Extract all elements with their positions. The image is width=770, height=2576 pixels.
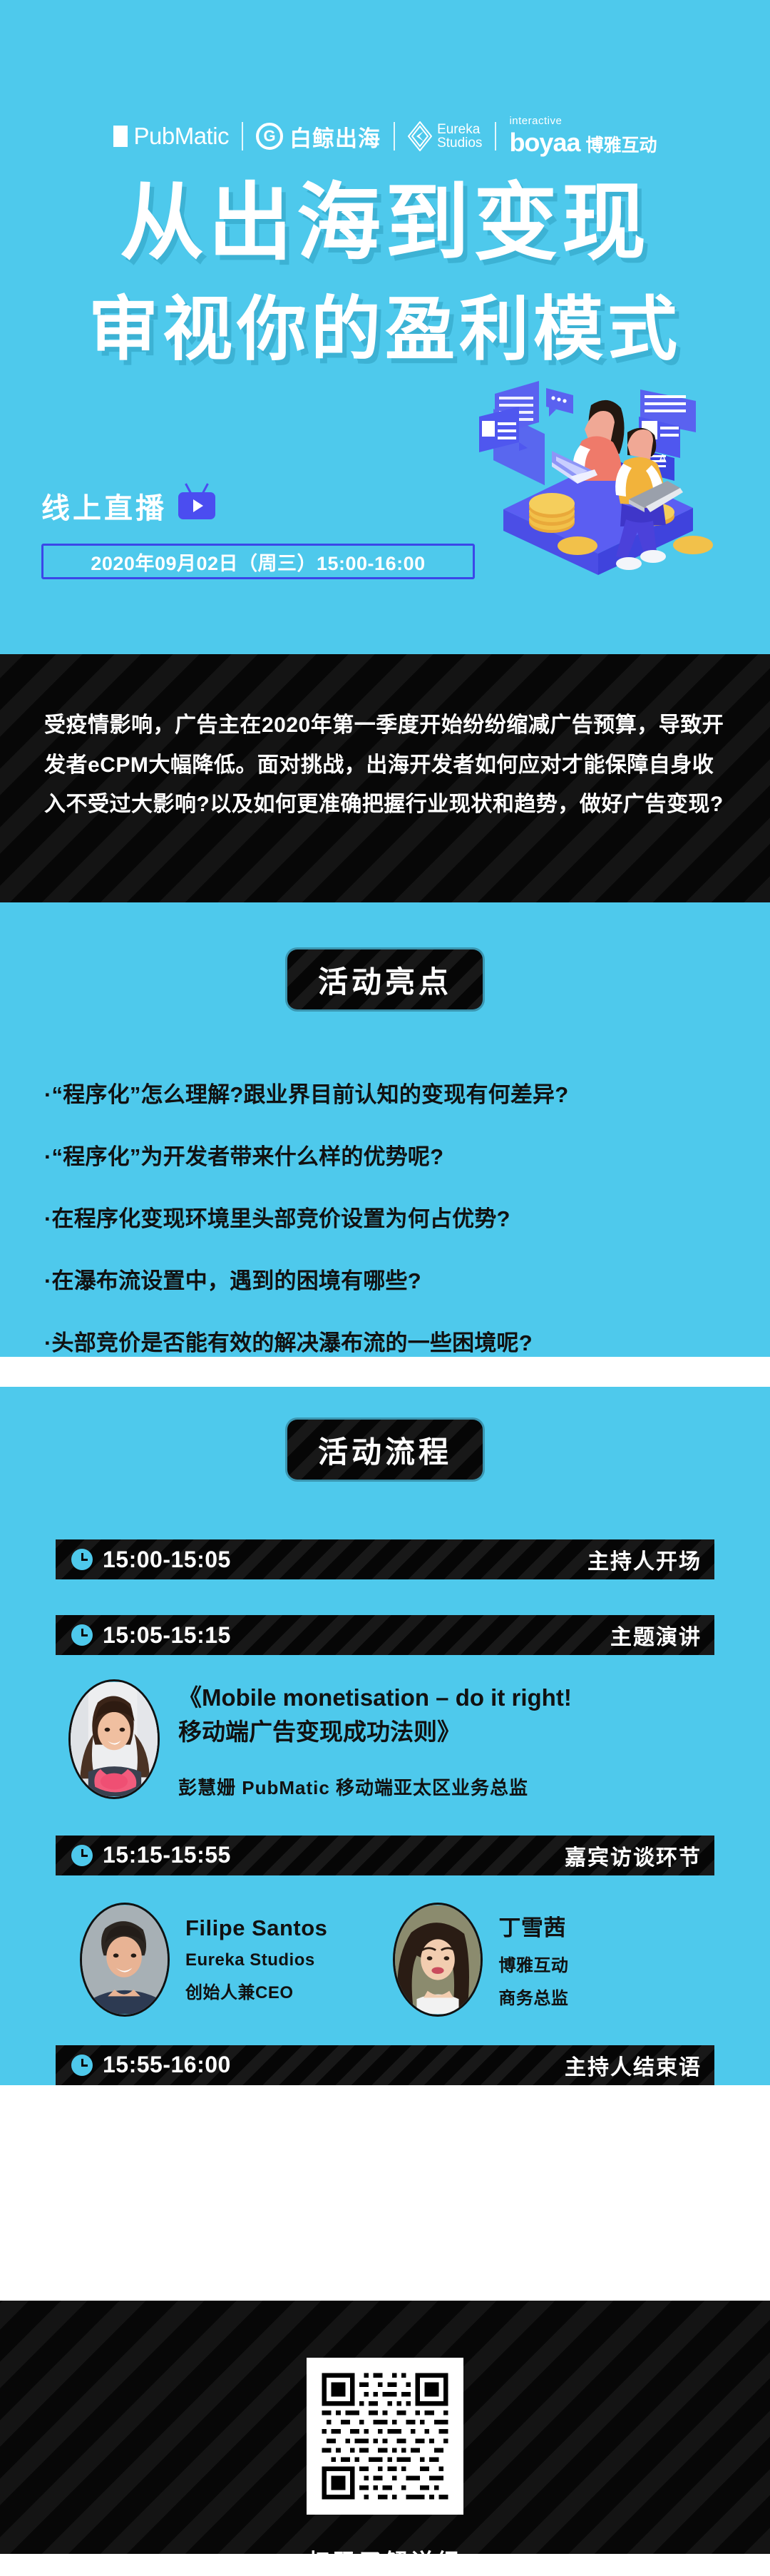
- logo-divider: [242, 122, 243, 151]
- guest-role: 创始人兼CEO: [185, 1978, 327, 2003]
- agenda-time: 15:00-15:05: [103, 1547, 231, 1573]
- intro-paragraph: 受疫情影响，广告主在2020年第一季度开始纷纷缩减广告预算，导致开发者eCPM大…: [44, 706, 726, 825]
- agenda-label: 主持人开场: [587, 1544, 702, 1575]
- hero-section: PubMatic G 白鲸出海 Eureka Studios: [0, 0, 770, 654]
- agenda-label: 主持人结束语: [565, 2050, 702, 2081]
- logo-pubmatic: PubMatic: [113, 123, 230, 150]
- guest-list: Filipe Santos Eureka Studios 创始人兼CEO: [0, 1875, 770, 2017]
- keynote-speaker-name: 彭慧姗 PubMatic 移动端亚太区业务总监: [178, 1773, 572, 1800]
- list-item: ·“程序化”为开发者带来什么样的优势呢?: [44, 1139, 751, 1171]
- highlights-list: ·“程序化”怎么理解?跟业界目前认知的变现有何差异? ·“程序化”为开发者带来什…: [0, 1076, 770, 1357]
- baijing-whale-icon: G: [256, 123, 283, 150]
- agenda-row: 15:15-15:55 嘉宾访谈环节: [56, 1836, 714, 1875]
- eureka-diamond-icon: [408, 122, 432, 151]
- live-label-row: 线上直播: [41, 485, 215, 526]
- baijing-wordmark: 白鲸出海: [289, 121, 381, 153]
- avatar: [68, 1679, 160, 1799]
- guest-card: Filipe Santos Eureka Studios 创始人兼CEO: [80, 1903, 327, 2017]
- keynote-title-line2: 移动端广告变现成功法则》: [178, 1715, 572, 1749]
- partner-logo-row: PubMatic G 白鲸出海 Eureka Studios: [0, 116, 770, 156]
- guest-role: 商务总监: [498, 1984, 568, 2009]
- date-time-badge: 2020年09月02日（周三）15:00-16:00: [41, 544, 475, 579]
- avatar: [393, 1903, 483, 2017]
- logo-baijing: G 白鲸出海: [256, 121, 381, 153]
- boyaa-wordmark-en: boyaa: [509, 128, 580, 158]
- eureka-line2: Studios: [437, 136, 482, 150]
- tv-play-icon: [178, 492, 215, 519]
- clock-icon: [71, 1549, 93, 1570]
- guest-org: Eureka Studios: [185, 1950, 327, 1970]
- eureka-line1: Eureka: [437, 123, 482, 136]
- qr-code-icon: [317, 2368, 453, 2504]
- intro-section: 受疫情影响，广告主在2020年第一季度开始纷纷缩减广告预算，导致开发者eCPM大…: [0, 654, 770, 902]
- clock-icon: [71, 1624, 93, 1646]
- eureka-wordmark: Eureka Studios: [437, 123, 482, 150]
- agenda-row: 15:05-15:15 主题演讲: [56, 1615, 714, 1655]
- clock-icon: [71, 1845, 93, 1866]
- hero-illustration: A: [445, 380, 751, 645]
- agenda-label: 主题演讲: [610, 1619, 702, 1651]
- poster-root: PubMatic G 白鲸出海 Eureka Studios: [0, 0, 770, 2554]
- logo-eureka: Eureka Studios: [408, 122, 482, 151]
- svg-text:A: A: [659, 453, 667, 465]
- qr-caption: 扫码了解详细: [0, 2544, 770, 2576]
- highlights-section: 活动亮点 ·“程序化”怎么理解?跟业界目前认知的变现有何差异? ·“程序化”为开…: [0, 902, 770, 1357]
- guest-name: Filipe Santos: [185, 1915, 327, 1941]
- hero-title-line1: 从出海到变现: [0, 180, 770, 265]
- pubmatic-mark-icon: [113, 126, 128, 147]
- list-item: ·“程序化”怎么理解?跟业界目前认知的变现有何差异?: [44, 1076, 751, 1109]
- pubmatic-wordmark: PubMatic: [134, 123, 230, 150]
- list-item: ·在瀑布流设置中，遇到的困境有哪些?: [44, 1263, 751, 1295]
- guest-org: 博雅互动: [498, 1951, 568, 1976]
- keynote-title-line1: 《Mobile monetisation – do it right!: [178, 1681, 572, 1715]
- keynote-speaker-block: 《Mobile monetisation – do it right! 移动端广…: [0, 1655, 770, 1800]
- guest-card: 丁雪茜 博雅互动 商务总监: [393, 1903, 568, 2017]
- logo-divider: [394, 122, 395, 151]
- logo-boyaa: interactive boyaa 博雅互动: [509, 115, 657, 158]
- agenda-label: 嘉宾访谈环节: [565, 1840, 702, 1871]
- guest-name: 丁雪茜: [498, 1910, 568, 1942]
- qr-code[interactable]: [307, 2358, 463, 2515]
- hero-title-line2: 审视你的盈利模式: [0, 295, 770, 365]
- boyaa-tagline: interactive: [509, 115, 562, 127]
- agenda-section: 活动流程 15:00-15:05 主持人开场 15:05-15:15 主题演讲: [0, 1387, 770, 2085]
- live-label: 线上直播: [41, 485, 167, 526]
- agenda-row: 15:55-16:00 主持人结束语: [56, 2045, 714, 2085]
- list-item: ·头部竞价是否能有效的解决瀑布流的一些困境呢?: [44, 1325, 751, 1357]
- agenda-time: 15:55-16:00: [103, 2052, 231, 2078]
- boyaa-wordmark-cn: 博雅互动: [585, 131, 657, 157]
- logo-divider: [495, 122, 496, 151]
- agenda-time: 15:05-15:15: [103, 1622, 231, 1649]
- avatar: [80, 1903, 170, 2017]
- agenda-row: 15:00-15:05 主持人开场: [56, 1539, 714, 1579]
- clock-icon: [71, 2055, 93, 2076]
- agenda-time: 15:15-15:55: [103, 1842, 231, 1868]
- list-item: ·在程序化变现环境里头部竞价设置为何占优势?: [44, 1201, 751, 1233]
- highlights-chip: 活动亮点: [287, 950, 483, 1009]
- agenda-chip: 活动流程: [287, 1420, 483, 1480]
